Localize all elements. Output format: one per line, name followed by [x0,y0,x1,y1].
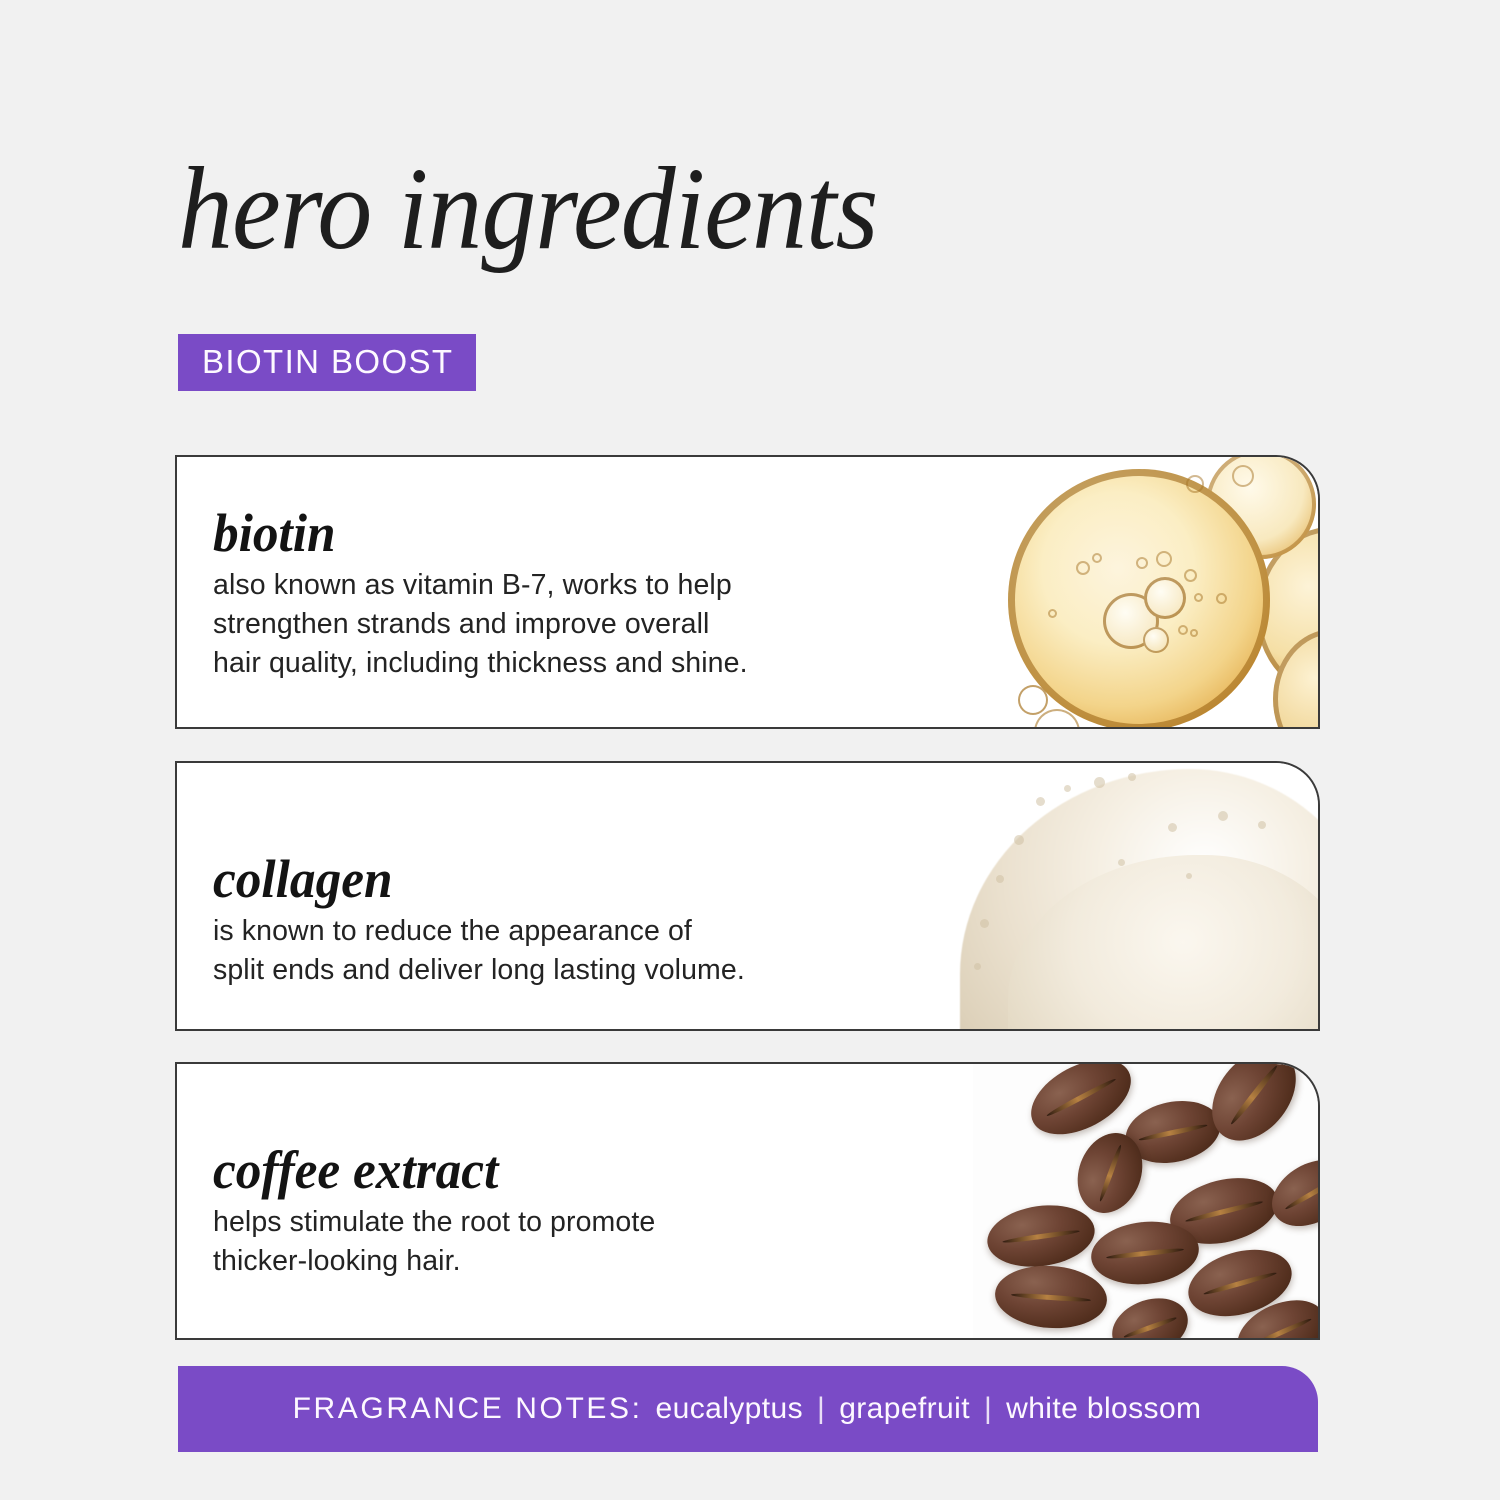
ingredient-description: also known as vitamin B-7, works to help… [213,566,748,684]
fragrance-separator: | [984,1392,992,1426]
ingredient-name: coffee extract [213,1142,633,1199]
ingredient-name: collagen [213,851,718,908]
fragrance-note-2: grapefruit [839,1392,970,1426]
card-text-block: collagen is known to reduce the appearan… [213,851,745,990]
fragrance-note-3: white blossom [1006,1392,1201,1426]
fragrance-notes-bar: FRAGRANCE NOTES: eucalyptus | grapefruit… [178,1366,1318,1452]
card-text-block: coffee extract helps stimulate the root … [213,1142,655,1281]
ingredient-name: biotin [213,505,721,562]
fragrance-note-1: eucalyptus [656,1392,803,1426]
ingredient-card-biotin: biotin also known as vitamin B-7, works … [175,455,1320,729]
product-line-badge: BIOTIN BOOST [178,334,476,391]
page-title: hero ingredients [178,150,877,268]
fragrance-line: FRAGRANCE NOTES: eucalyptus | grapefruit… [293,1392,1204,1426]
coffee-beans-image [973,1064,1318,1338]
fragrance-label: FRAGRANCE NOTES: [293,1392,643,1426]
ingredient-description: is known to reduce the appearance of spl… [213,912,745,991]
card-text-block: biotin also known as vitamin B-7, works … [213,505,748,684]
fragrance-separator: | [817,1392,825,1426]
ingredient-description: helps stimulate the root to promote thic… [213,1203,655,1282]
ingredient-card-collagen: collagen is known to reduce the appearan… [175,761,1320,1031]
oil-bubbles-image [988,457,1318,727]
ingredient-card-coffee-extract: coffee extract helps stimulate the root … [175,1062,1320,1340]
collagen-powder-image [918,763,1318,1029]
